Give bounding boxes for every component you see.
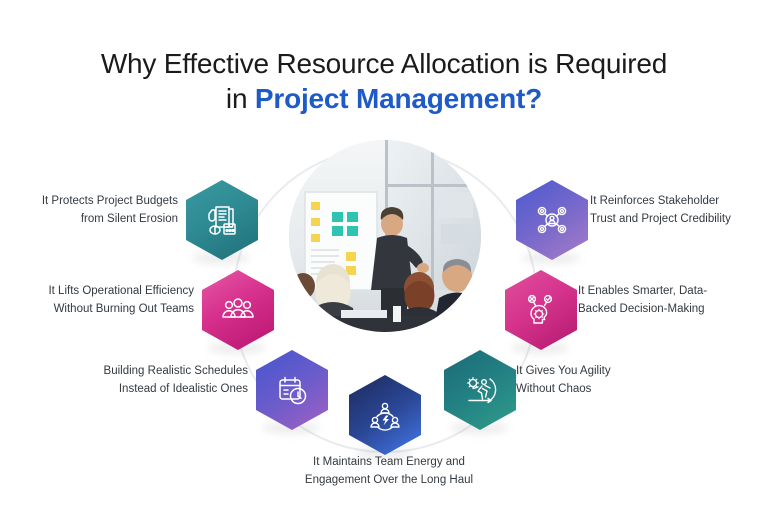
- label-team-energy: It Maintains Team Energy and Engagement …: [280, 454, 498, 490]
- hex-agility[interactable]: [444, 350, 516, 430]
- hex-protects-budgets[interactable]: [186, 180, 258, 260]
- label-line-1: It Enables Smarter, Data-: [578, 283, 768, 301]
- label-line-1: It Gives You Agility: [516, 363, 716, 381]
- page-title: Why Effective Resource Allocation is Req…: [0, 46, 768, 116]
- infographic-canvas: Why Effective Resource Allocation is Req…: [0, 0, 768, 527]
- label-operational-efficiency: It Lifts Operational Efficiency Without …: [0, 283, 194, 319]
- hex-team-energy[interactable]: [349, 375, 421, 455]
- label-line-1: It Lifts Operational Efficiency: [0, 283, 194, 301]
- label-agility: It Gives You Agility Without Chaos: [516, 363, 716, 399]
- team-energy-network-icon: [365, 395, 405, 435]
- hex-realistic-schedules[interactable]: [256, 350, 328, 430]
- label-line-2: Without Chaos: [516, 381, 716, 399]
- stakeholder-network-icon: [532, 200, 572, 240]
- calendar-clock-icon: [272, 370, 312, 410]
- title-prefix: in: [226, 83, 255, 114]
- title-line-2: in Project Management?: [0, 81, 768, 116]
- label-line-1: It Protects Project Budgets: [0, 193, 178, 211]
- label-line-2: Trust and Project Credibility: [590, 211, 768, 229]
- label-stakeholder-trust: It Reinforces Stakeholder Trust and Proj…: [590, 193, 768, 229]
- label-line-2: Backed Decision-Making: [578, 301, 768, 319]
- label-line-1: Building Realistic Schedules: [60, 363, 248, 381]
- label-realistic-schedules: Building Realistic Schedules Instead of …: [60, 363, 248, 399]
- head-gear-decision-icon: [521, 290, 561, 330]
- hex-data-backed-decisions[interactable]: [505, 270, 577, 350]
- center-photo: [289, 140, 481, 332]
- title-accent: Project Management?: [255, 83, 542, 114]
- hex-stakeholder-trust[interactable]: [516, 180, 588, 260]
- label-line-2: Without Burning Out Teams: [0, 301, 194, 319]
- meeting-photo-illustration: [289, 140, 481, 332]
- team-people-icon: [218, 290, 258, 330]
- label-line-2: Instead of Idealistic Ones: [60, 381, 248, 399]
- label-protects-budgets: It Protects Project Budgets from Silent …: [0, 193, 178, 229]
- label-line-1: It Reinforces Stakeholder: [590, 193, 768, 211]
- invoice-calculator-icon: [202, 200, 242, 240]
- label-line-2: Engagement Over the Long Haul: [280, 472, 498, 490]
- hex-operational-efficiency[interactable]: [202, 270, 274, 350]
- label-data-backed-decisions: It Enables Smarter, Data- Backed Decisio…: [578, 283, 768, 319]
- label-line-1: It Maintains Team Energy and: [280, 454, 498, 472]
- label-line-2: from Silent Erosion: [0, 211, 178, 229]
- agility-runner-gear-icon: [460, 370, 500, 410]
- title-line-1: Why Effective Resource Allocation is Req…: [0, 46, 768, 81]
